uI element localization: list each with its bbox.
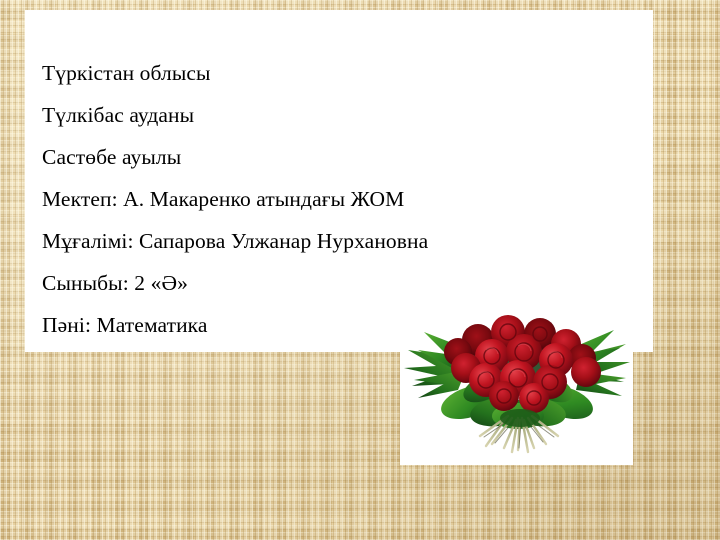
bouquet-illustration — [400, 310, 633, 465]
stem-collar — [500, 409, 540, 427]
text-line-school: Мектеп: А. Макаренко атындағы ЖОМ — [42, 178, 649, 220]
presentation-slide: Түркістан облысы Түлкібас ауданы Састөбе… — [0, 0, 720, 540]
text-line-class: Сыныбы: 2 «Ә» — [42, 262, 649, 304]
text-line-region: Түркістан облысы — [42, 52, 649, 94]
text-line-district: Түлкібас ауданы — [42, 94, 649, 136]
red-rose-bouquet-photo — [400, 310, 633, 465]
text-line-teacher: Мұғалімі: Сапарова Улжанар Нурхановна — [42, 220, 649, 262]
text-line-list: Түркістан облысы Түлкібас ауданы Састөбе… — [42, 52, 649, 346]
text-panel: Түркістан облысы Түлкібас ауданы Састөбе… — [25, 10, 653, 352]
text-line-village: Састөбе ауылы — [42, 136, 649, 178]
